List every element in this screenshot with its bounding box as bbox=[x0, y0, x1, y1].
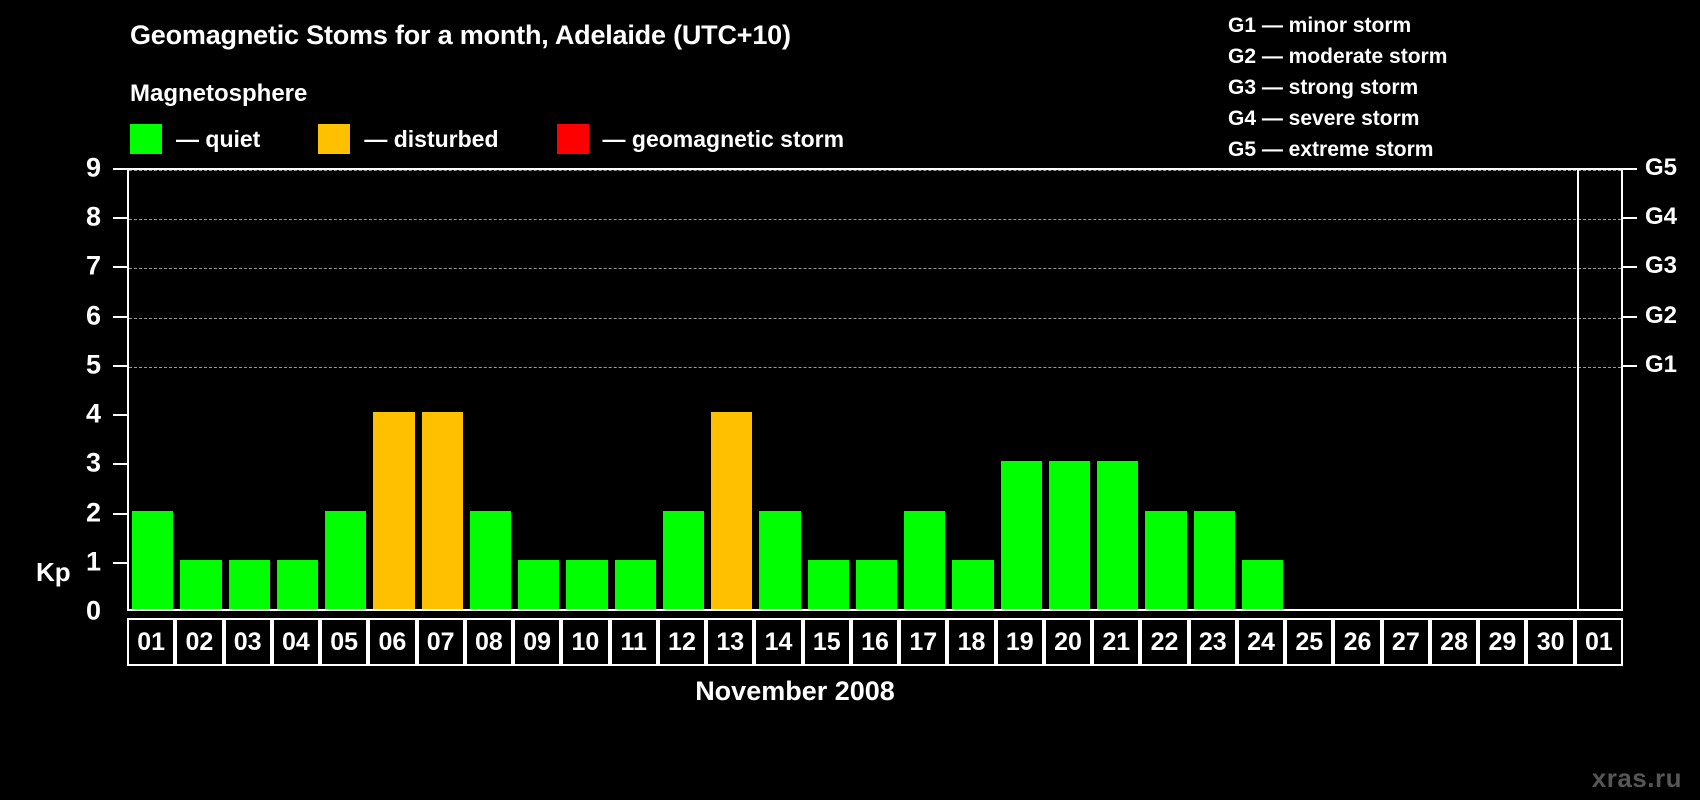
plot-inner bbox=[129, 170, 1621, 609]
legend-item-label: — quiet bbox=[176, 126, 260, 153]
bar bbox=[904, 511, 945, 609]
bar bbox=[180, 560, 221, 609]
day-cell-label: 16 bbox=[861, 630, 889, 655]
day-cell[interactable]: 01 bbox=[1575, 618, 1623, 666]
page-title: Geomagnetic Stoms for a month, Adelaide … bbox=[130, 20, 791, 51]
day-cell[interactable]: 10 bbox=[561, 618, 609, 666]
bar bbox=[1242, 560, 1283, 609]
legend-item-label: — geomagnetic storm bbox=[603, 126, 845, 153]
y-axis-tick-label: 6 bbox=[86, 300, 101, 331]
magnetosphere-legend: — quiet— disturbed— geomagnetic storm bbox=[130, 124, 902, 154]
y-axis-tick bbox=[113, 562, 127, 564]
day-cell-label: 20 bbox=[1054, 630, 1082, 655]
y-axis-tick-label: 8 bbox=[86, 202, 101, 233]
y-axis-tick-label: 1 bbox=[86, 546, 101, 577]
y-axis-tick-label: 7 bbox=[86, 251, 101, 282]
day-cell-label: 08 bbox=[475, 630, 503, 655]
bar bbox=[808, 560, 849, 609]
g-axis-tick bbox=[1623, 316, 1637, 318]
day-cell[interactable]: 02 bbox=[175, 618, 223, 666]
day-cell-label: 19 bbox=[1006, 630, 1034, 655]
orange-square-swatch bbox=[318, 124, 350, 154]
y-axis-tick bbox=[113, 266, 127, 268]
y-axis-tick-label: 3 bbox=[86, 448, 101, 479]
day-cell[interactable]: 05 bbox=[320, 618, 368, 666]
y-axis-tick-label: 2 bbox=[86, 497, 101, 528]
g-axis-tick-label: G3 bbox=[1645, 252, 1677, 280]
day-cell-label: 28 bbox=[1440, 630, 1468, 655]
bar bbox=[518, 560, 559, 609]
month-divider-line bbox=[1577, 170, 1579, 609]
day-cell[interactable]: 27 bbox=[1382, 618, 1430, 666]
bar-series bbox=[129, 170, 1621, 609]
day-cell-label: 05 bbox=[330, 630, 358, 655]
day-cell[interactable]: 12 bbox=[658, 618, 706, 666]
g-scale-row: G5 — extreme storm bbox=[1228, 134, 1447, 165]
legend-item-label: — disturbed bbox=[364, 126, 498, 153]
legend-item: — geomagnetic storm bbox=[557, 124, 845, 154]
g-axis-tick-label: G5 bbox=[1645, 154, 1677, 182]
y-axis-tick bbox=[113, 463, 127, 465]
bar bbox=[229, 560, 270, 609]
green-square-swatch bbox=[130, 124, 162, 154]
bar bbox=[1049, 461, 1090, 609]
g-axis-tick bbox=[1623, 217, 1637, 219]
day-cell[interactable]: 04 bbox=[272, 618, 320, 666]
x-axis-title: November 2008 bbox=[0, 676, 1700, 707]
day-cell[interactable]: 06 bbox=[368, 618, 416, 666]
day-cell[interactable]: 01 bbox=[127, 618, 175, 666]
day-cell[interactable]: 08 bbox=[465, 618, 513, 666]
day-cell-label: 13 bbox=[716, 630, 744, 655]
day-cell[interactable]: 09 bbox=[513, 618, 561, 666]
g-axis-tick-label: G1 bbox=[1645, 351, 1677, 379]
day-cell-label: 17 bbox=[909, 630, 937, 655]
bar bbox=[373, 412, 414, 609]
day-cell[interactable]: 07 bbox=[417, 618, 465, 666]
day-cell-label: 12 bbox=[668, 630, 696, 655]
day-cell[interactable]: 22 bbox=[1140, 618, 1188, 666]
day-cell[interactable]: 28 bbox=[1430, 618, 1478, 666]
day-cell[interactable]: 29 bbox=[1478, 618, 1526, 666]
bar bbox=[470, 511, 511, 609]
day-cell[interactable]: 13 bbox=[706, 618, 754, 666]
bar bbox=[132, 511, 173, 609]
day-cell[interactable]: 26 bbox=[1333, 618, 1381, 666]
day-cell[interactable]: 15 bbox=[803, 618, 851, 666]
y-axis-tick bbox=[113, 217, 127, 219]
y-axis-tick bbox=[113, 365, 127, 367]
day-cell[interactable]: 21 bbox=[1092, 618, 1140, 666]
bar bbox=[325, 511, 366, 609]
watermark: xras.ru bbox=[1592, 763, 1682, 794]
y-axis-tick bbox=[113, 316, 127, 318]
y-axis-tick bbox=[113, 414, 127, 416]
day-cell-label: 29 bbox=[1488, 630, 1516, 655]
bar bbox=[277, 560, 318, 609]
day-cell[interactable]: 20 bbox=[1044, 618, 1092, 666]
y-axis: Kp 0123456789 bbox=[0, 168, 127, 611]
day-cell[interactable]: 14 bbox=[754, 618, 802, 666]
day-cell-label: 01 bbox=[137, 630, 165, 655]
day-cell-label: 03 bbox=[234, 630, 262, 655]
g-scale-axis: G1G2G3G4G5 bbox=[1623, 168, 1700, 611]
bar bbox=[759, 511, 800, 609]
day-cell-label: 30 bbox=[1537, 630, 1565, 655]
g-axis-tick bbox=[1623, 266, 1637, 268]
x-axis-title-text: November 2008 bbox=[695, 676, 895, 707]
g-axis-tick-label: G4 bbox=[1645, 203, 1677, 231]
day-cell-label: 01 bbox=[1585, 630, 1613, 655]
y-axis-tick-label: 4 bbox=[86, 399, 101, 430]
day-cell-label: 09 bbox=[523, 630, 551, 655]
day-cell-label: 07 bbox=[427, 630, 455, 655]
g-axis-tick-label: G2 bbox=[1645, 302, 1677, 330]
day-cell[interactable]: 23 bbox=[1189, 618, 1237, 666]
day-cell-label: 23 bbox=[1199, 630, 1227, 655]
g-scale-row: G1 — minor storm bbox=[1228, 10, 1447, 41]
plot-area bbox=[127, 168, 1623, 611]
day-cell-label: 27 bbox=[1392, 630, 1420, 655]
bar bbox=[1194, 511, 1235, 609]
bar bbox=[1145, 511, 1186, 609]
bar bbox=[711, 412, 752, 609]
bar bbox=[1001, 461, 1042, 609]
day-cell-label: 25 bbox=[1295, 630, 1323, 655]
red-square-swatch bbox=[557, 124, 589, 154]
g-scale-legend: G1 — minor stormG2 — moderate stormG3 — … bbox=[1228, 10, 1447, 165]
y-axis-tick-label: 0 bbox=[86, 596, 101, 627]
x-axis-day-cells: 0102030405060708091011121314151617181920… bbox=[127, 618, 1623, 666]
day-cell-label: 22 bbox=[1151, 630, 1179, 655]
y-axis-tick-label: 5 bbox=[86, 349, 101, 380]
day-cell[interactable]: 16 bbox=[851, 618, 899, 666]
day-cell-label: 21 bbox=[1102, 630, 1130, 655]
day-cell[interactable]: 19 bbox=[996, 618, 1044, 666]
day-cell-label: 18 bbox=[958, 630, 986, 655]
day-cell-label: 15 bbox=[813, 630, 841, 655]
bar bbox=[952, 560, 993, 609]
bar bbox=[615, 560, 656, 609]
day-cell-label: 10 bbox=[572, 630, 600, 655]
day-cell-label: 14 bbox=[765, 630, 793, 655]
day-cell[interactable]: 03 bbox=[224, 618, 272, 666]
bar bbox=[663, 511, 704, 609]
y-axis-tick bbox=[113, 513, 127, 515]
y-axis-tick bbox=[113, 168, 127, 170]
magnetosphere-heading: Magnetosphere bbox=[130, 80, 307, 108]
g-axis-tick bbox=[1623, 365, 1637, 367]
day-cell-label: 26 bbox=[1344, 630, 1372, 655]
g-axis-tick bbox=[1623, 168, 1637, 170]
day-cell-label: 06 bbox=[379, 630, 407, 655]
day-cell-label: 24 bbox=[1247, 630, 1275, 655]
day-cell[interactable]: 25 bbox=[1285, 618, 1333, 666]
day-cell[interactable]: 30 bbox=[1526, 618, 1574, 666]
bar bbox=[1097, 461, 1138, 609]
bar bbox=[422, 412, 463, 609]
day-cell[interactable]: 17 bbox=[899, 618, 947, 666]
g-scale-row: G2 — moderate storm bbox=[1228, 41, 1447, 72]
day-cell-label: 04 bbox=[282, 630, 310, 655]
y-axis-title: Kp bbox=[36, 557, 71, 588]
y-axis-tick-label: 9 bbox=[86, 153, 101, 184]
day-cell-label: 11 bbox=[620, 630, 646, 655]
day-cell[interactable]: 11 bbox=[610, 618, 658, 666]
day-cell[interactable]: 24 bbox=[1237, 618, 1285, 666]
day-cell[interactable]: 18 bbox=[947, 618, 995, 666]
legend-item: — quiet bbox=[130, 124, 260, 154]
day-cell-label: 02 bbox=[185, 630, 213, 655]
g-scale-row: G4 — severe storm bbox=[1228, 103, 1447, 134]
legend-item: — disturbed bbox=[318, 124, 498, 154]
bar bbox=[566, 560, 607, 609]
bar bbox=[856, 560, 897, 609]
g-scale-row: G3 — strong storm bbox=[1228, 72, 1447, 103]
